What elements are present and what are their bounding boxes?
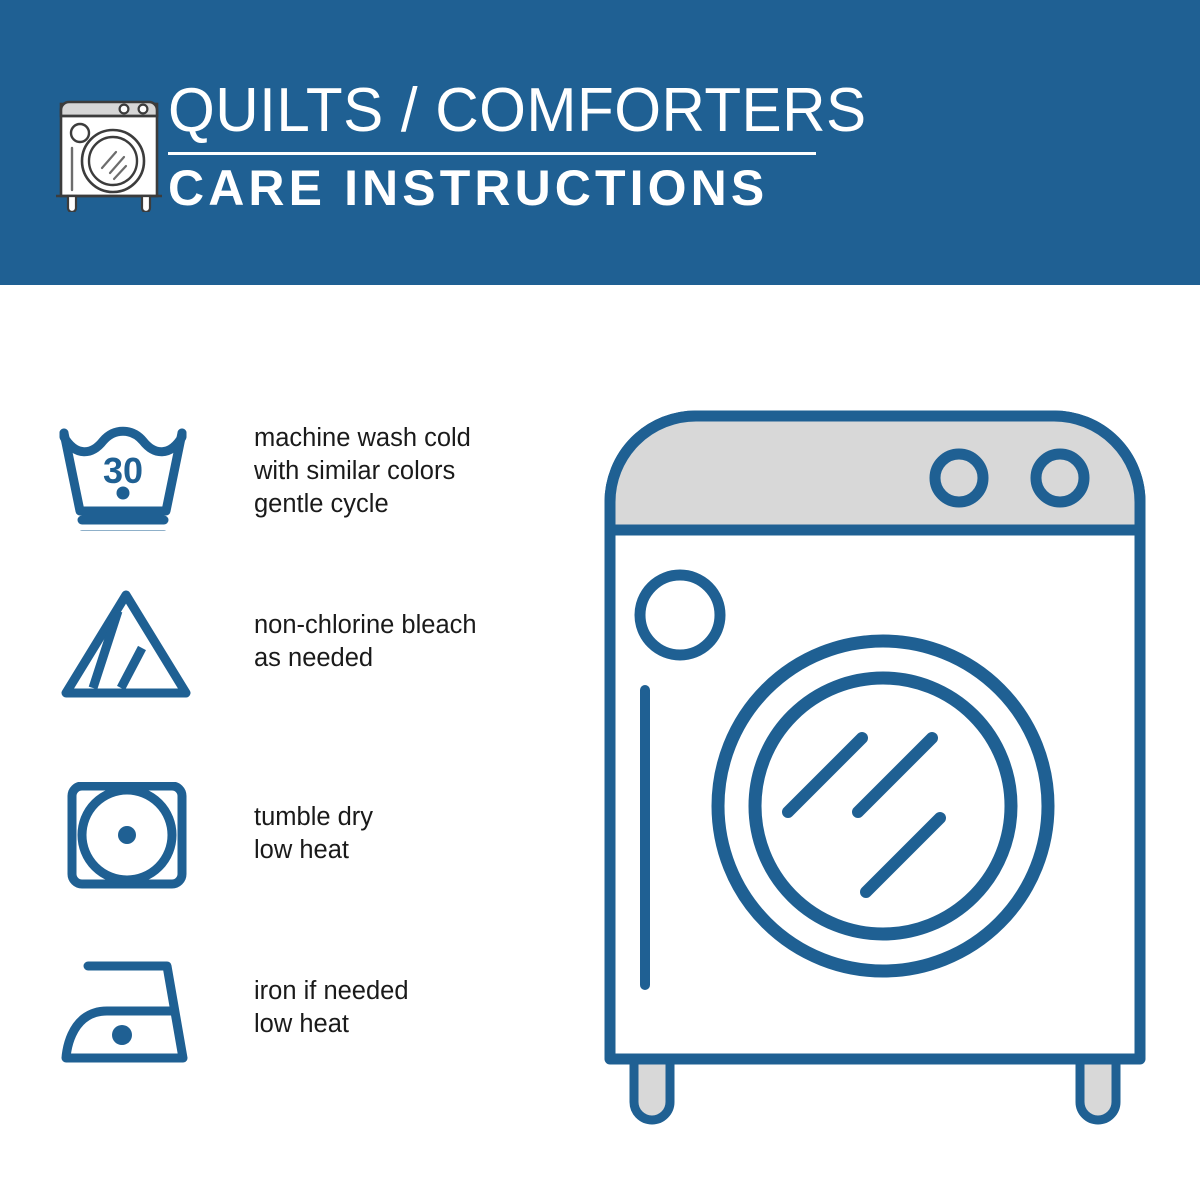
- machine-wash-30-gentle-icon: 30: [58, 411, 194, 531]
- title-divider: [168, 152, 816, 155]
- care-text-iron: iron if needed low heat: [254, 975, 409, 1041]
- bleach-stripe-2: [121, 648, 142, 688]
- care-text-wash: machine wash cold with similar colors ge…: [254, 422, 471, 521]
- header-band: QUILTS / COMFORTERS CARE INSTRUCTIONS: [0, 0, 1200, 285]
- wash-temperature-value: 30: [103, 450, 143, 491]
- iron-heat-dot: [112, 1025, 132, 1045]
- page-title-primary: QUILTS / COMFORTERS: [168, 76, 808, 146]
- leg-left: [634, 1057, 670, 1120]
- non-chlorine-bleach-triangle-icon: [58, 585, 194, 705]
- leg-right: [1080, 1057, 1116, 1120]
- header-washing-machine-logo-icon: [50, 78, 168, 212]
- care-instructions-page: QUILTS / COMFORTERS CARE INSTRUCTIONS 30: [0, 0, 1200, 1200]
- header-title-block: QUILTS / COMFORTERS CARE INSTRUCTIONS: [168, 76, 828, 217]
- care-instruction-list: 30 machine wash cold with similar colors…: [0, 285, 560, 1200]
- knob-right: [1036, 454, 1084, 502]
- tumble-dry-low-heat-icon: [58, 782, 194, 902]
- front-load-washing-machine-illustration: [596, 402, 1166, 1132]
- knob-left: [935, 454, 983, 502]
- iron-low-heat-icon: [58, 953, 194, 1073]
- care-text-bleach: non-chlorine bleach as needed: [254, 609, 477, 675]
- machine-legs: [634, 1057, 1116, 1120]
- care-text-tumble-dry: tumble dry low heat: [254, 801, 373, 867]
- dry-heat-dot: [118, 826, 136, 844]
- wash-heat-dot: [117, 487, 130, 500]
- page-title-secondary: CARE INSTRUCTIONS: [168, 159, 828, 217]
